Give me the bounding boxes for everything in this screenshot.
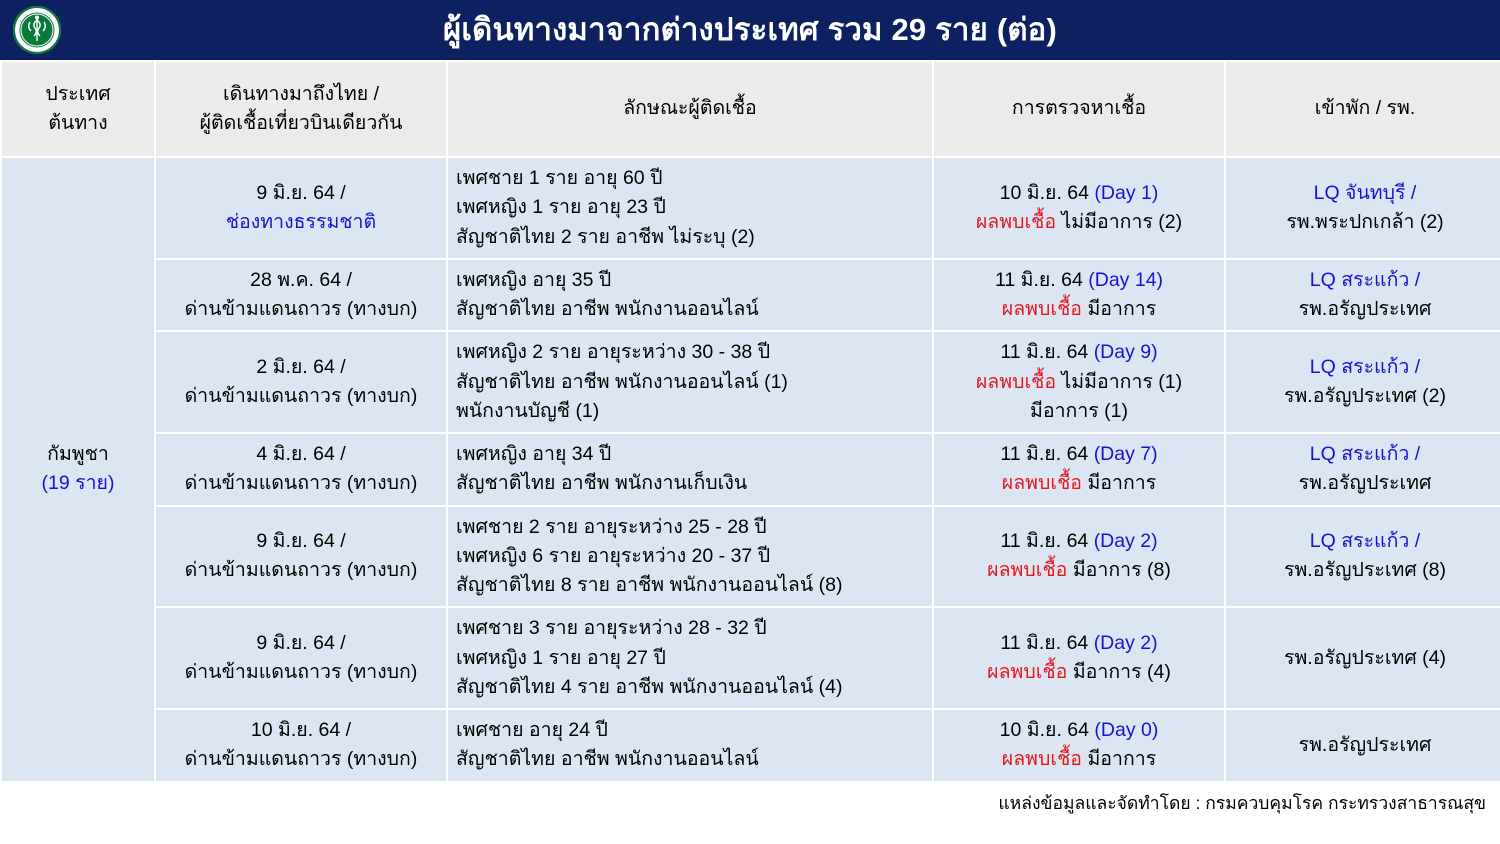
stay-hospital-cell: LQ สระแก้ว /รพ.อรัญประเทศ bbox=[1226, 260, 1500, 331]
stay-hospital-cell: LQ จันทบุรี /รพ.พระปกเกล้า (2) bbox=[1226, 158, 1500, 258]
country-name: กัมพูชา bbox=[10, 440, 146, 469]
case-detail-line: สัญชาติไทย อาชีพ พนักงานออนไลน์ bbox=[456, 745, 924, 774]
case-detail-line: เพศชาย อายุ 24 ปี bbox=[456, 716, 924, 745]
test-date-line: 11 มิ.ย. 64 (Day 9) bbox=[942, 338, 1216, 367]
test-day-number: (Day 1) bbox=[1094, 182, 1158, 204]
test-result-line: ผลพบเชื้อ ไม่มีอาการ (1) bbox=[942, 368, 1216, 397]
test-result-line: ผลพบเชื้อ มีอาการ (8) bbox=[942, 556, 1216, 585]
case-detail-line: เพศหญิง 6 ราย อายุระหว่าง 20 - 37 ปี bbox=[456, 542, 924, 571]
case-detail-cell: เพศหญิง อายุ 34 ปีสัญชาติไทย อาชีพ พนักง… bbox=[448, 434, 932, 505]
case-detail-cell: เพศหญิง อายุ 35 ปีสัญชาติไทย อาชีพ พนักง… bbox=[448, 260, 932, 331]
test-date: 10 มิ.ย. 64 bbox=[1000, 182, 1089, 204]
test-date-line: 10 มิ.ย. 64 (Day 0) bbox=[942, 716, 1216, 745]
test-result-positive: ผลพบเชื้อ bbox=[987, 661, 1067, 683]
column-header-stay: เข้าพัก / รพ. bbox=[1226, 62, 1500, 156]
country-group-cell: กัมพูชา(19 ราย) bbox=[2, 158, 154, 781]
table-body: กัมพูชา(19 ราย)9 มิ.ย. 64 /ช่องทางธรรมชา… bbox=[2, 158, 1500, 781]
case-detail-line: เพศชาย 3 ราย อายุระหว่าง 28 - 32 ปี bbox=[456, 614, 924, 643]
stay-hospital-cell: รพ.อรัญประเทศ (4) bbox=[1226, 608, 1500, 708]
slide-page: ผู้เดินทางมาจากต่างประเทศ รวม 29 ราย (ต่… bbox=[0, 0, 1500, 844]
stay-location: LQ สระแก้ว / bbox=[1234, 440, 1496, 469]
test-result-positive: ผลพบเชื้อ bbox=[976, 211, 1056, 233]
test-date: 11 มิ.ย. 64 bbox=[1000, 443, 1088, 465]
case-detail-cell: เพศหญิง 2 ราย อายุระหว่าง 30 - 38 ปีสัญช… bbox=[448, 332, 932, 432]
table-row: 10 มิ.ย. 64 /ด่านข้ามแดนถาวร (ทางบก)เพศช… bbox=[2, 710, 1500, 781]
table-row: 2 มิ.ย. 64 /ด่านข้ามแดนถาวร (ทางบก)เพศหญ… bbox=[2, 332, 1500, 432]
column-header-arrival-line1: เดินทางมาถึงไทย / bbox=[164, 80, 438, 109]
table-row: 4 มิ.ย. 64 /ด่านข้ามแดนถาวร (ทางบก)เพศหญ… bbox=[2, 434, 1500, 505]
test-date: 11 มิ.ย. 64 bbox=[995, 269, 1083, 291]
test-result-line: ผลพบเชื้อ มีอาการ bbox=[942, 469, 1216, 498]
stay-hospital-cell: LQ สระแก้ว /รพ.อรัญประเทศ bbox=[1226, 434, 1500, 505]
stay-location: LQ สระแก้ว / bbox=[1234, 527, 1496, 556]
arrival-date: 9 มิ.ย. 64 / bbox=[164, 179, 438, 208]
stay-hospital-cell: LQ สระแก้ว /รพ.อรัญประเทศ (2) bbox=[1226, 332, 1500, 432]
case-detail-line: สัญชาติไทย 2 ราย อาชีพ ไม่ระบุ (2) bbox=[456, 223, 924, 252]
case-detail-line: พนักงานบัญชี (1) bbox=[456, 397, 924, 426]
stay-hospital: รพ.พระปกเกล้า (2) bbox=[1234, 208, 1496, 237]
table-row: 9 มิ.ย. 64 /ด่านข้ามแดนถาวร (ทางบก)เพศชา… bbox=[2, 507, 1500, 607]
page-title: ผู้เดินทางมาจากต่างประเทศ รวม 29 ราย (ต่… bbox=[443, 13, 1057, 47]
test-symptom: มีอาการ (8) bbox=[1073, 559, 1171, 581]
test-result-cell: 11 มิ.ย. 64 (Day 9)ผลพบเชื้อ ไม่มีอาการ … bbox=[934, 332, 1224, 432]
case-detail-line: เพศหญิง 1 ราย อายุ 23 ปี bbox=[456, 193, 924, 222]
stay-hospital: รพ.อรัญประเทศ (8) bbox=[1234, 556, 1496, 585]
test-date: 11 มิ.ย. 64 bbox=[1000, 632, 1088, 654]
case-detail-line: เพศหญิง อายุ 34 ปี bbox=[456, 440, 924, 469]
arrival-cell: 9 มิ.ย. 64 /ด่านข้ามแดนถาวร (ทางบก) bbox=[156, 507, 446, 607]
test-day-number: (Day 7) bbox=[1094, 443, 1158, 465]
column-header-country-line1: ประเทศ bbox=[10, 80, 146, 109]
arrival-cell: 4 มิ.ย. 64 /ด่านข้ามแดนถาวร (ทางบก) bbox=[156, 434, 446, 505]
stay-location: รพ.อรัญประเทศ bbox=[1234, 731, 1496, 760]
stay-location: รพ.อรัญประเทศ (4) bbox=[1234, 644, 1496, 673]
test-result-line: ผลพบเชื้อ มีอาการ (4) bbox=[942, 658, 1216, 687]
test-result-positive: ผลพบเชื้อ bbox=[976, 371, 1056, 393]
column-header-country-line2: ต้นทาง bbox=[10, 109, 146, 138]
case-detail-line: สัญชาติไทย อาชีพ พนักงานเก็บเงิน bbox=[456, 469, 924, 498]
test-result-cell: 10 มิ.ย. 64 (Day 0)ผลพบเชื้อ มีอาการ bbox=[934, 710, 1224, 781]
stay-location: LQ สระแก้ว / bbox=[1234, 353, 1496, 382]
test-result-cell: 10 มิ.ย. 64 (Day 1)ผลพบเชื้อ ไม่มีอาการ … bbox=[934, 158, 1224, 258]
case-detail-cell: เพศชาย อายุ 24 ปีสัญชาติไทย อาชีพ พนักงา… bbox=[448, 710, 932, 781]
case-detail-line: สัญชาติไทย อาชีพ พนักงานออนไลน์ bbox=[456, 295, 924, 324]
test-symptom-secondary: มีอาการ (1) bbox=[942, 397, 1216, 426]
country-case-count: (19 ราย) bbox=[10, 469, 146, 498]
case-detail-line: สัญชาติไทย 8 ราย อาชีพ พนักงานออนไลน์ (8… bbox=[456, 571, 924, 600]
column-header-stay-line1: เข้าพัก / รพ. bbox=[1234, 94, 1496, 123]
test-result-line: ผลพบเชื้อ มีอาการ bbox=[942, 745, 1216, 774]
imported-cases-table: ประเทศ ต้นทาง เดินทางมาถึงไทย / ผู้ติดเช… bbox=[0, 60, 1500, 783]
arrival-date: 10 มิ.ย. 64 / bbox=[164, 716, 438, 745]
arrival-date: 4 มิ.ย. 64 / bbox=[164, 440, 438, 469]
test-symptom: มีอาการ (4) bbox=[1073, 661, 1171, 683]
test-result-line: ผลพบเชื้อ มีอาการ bbox=[942, 295, 1216, 324]
arrival-cell: 10 มิ.ย. 64 /ด่านข้ามแดนถาวร (ทางบก) bbox=[156, 710, 446, 781]
source-footer: แหล่งข้อมูลและจัดทำโดย : กรมควบคุมโรค กร… bbox=[0, 783, 1500, 817]
column-header-arrival-line2: ผู้ติดเชื้อเที่ยวบินเดียวกัน bbox=[164, 109, 438, 138]
arrival-date: 9 มิ.ย. 64 / bbox=[164, 629, 438, 658]
test-symptom: มีอาการ bbox=[1087, 298, 1156, 320]
table-row: 9 มิ.ย. 64 /ด่านข้ามแดนถาวร (ทางบก)เพศชา… bbox=[2, 608, 1500, 708]
arrival-channel: ช่องทางธรรมชาติ bbox=[164, 208, 438, 237]
test-day-number: (Day 0) bbox=[1094, 719, 1158, 741]
case-detail-cell: เพศชาย 2 ราย อายุระหว่าง 25 - 28 ปีเพศหญ… bbox=[448, 507, 932, 607]
case-detail-line: สัญชาติไทย 4 ราย อาชีพ พนักงานออนไลน์ (4… bbox=[456, 673, 924, 702]
test-result-line: ผลพบเชื้อ ไม่มีอาการ (2) bbox=[942, 208, 1216, 237]
arrival-channel: ด่านข้ามแดนถาวร (ทางบก) bbox=[164, 658, 438, 687]
arrival-channel: ด่านข้ามแดนถาวร (ทางบก) bbox=[164, 745, 438, 774]
test-result-positive: ผลพบเชื้อ bbox=[1002, 472, 1082, 494]
table-row: กัมพูชา(19 ราย)9 มิ.ย. 64 /ช่องทางธรรมชา… bbox=[2, 158, 1500, 258]
arrival-channel: ด่านข้ามแดนถาวร (ทางบก) bbox=[164, 382, 438, 411]
case-detail-line: เพศหญิง 1 ราย อายุ 27 ปี bbox=[456, 644, 924, 673]
test-symptom: มีอาการ bbox=[1087, 748, 1156, 770]
test-symptom: มีอาการ bbox=[1087, 472, 1156, 494]
title-bar: ผู้เดินทางมาจากต่างประเทศ รวม 29 ราย (ต่… bbox=[0, 0, 1500, 60]
stay-location: LQ สระแก้ว / bbox=[1234, 266, 1496, 295]
arrival-date: 2 มิ.ย. 64 / bbox=[164, 353, 438, 382]
test-result-positive: ผลพบเชื้อ bbox=[1002, 298, 1082, 320]
ministry-of-public-health-emblem-icon bbox=[12, 5, 62, 55]
stay-hospital-cell: รพ.อรัญประเทศ bbox=[1226, 710, 1500, 781]
case-detail-line: เพศชาย 2 ราย อายุระหว่าง 25 - 28 ปี bbox=[456, 513, 924, 542]
arrival-channel: ด่านข้ามแดนถาวร (ทางบก) bbox=[164, 556, 438, 585]
test-result-positive: ผลพบเชื้อ bbox=[987, 559, 1067, 581]
case-detail-line: สัญชาติไทย อาชีพ พนักงานออนไลน์ (1) bbox=[456, 368, 924, 397]
arrival-date: 9 มิ.ย. 64 / bbox=[164, 527, 438, 556]
case-detail-cell: เพศชาย 3 ราย อายุระหว่าง 28 - 32 ปีเพศหญ… bbox=[448, 608, 932, 708]
column-header-detail: ลักษณะผู้ติดเชื้อ bbox=[448, 62, 932, 156]
table-header-row: ประเทศ ต้นทาง เดินทางมาถึงไทย / ผู้ติดเช… bbox=[2, 62, 1500, 156]
test-symptom: ไม่มีอาการ (1) bbox=[1061, 371, 1182, 393]
stay-hospital: รพ.อรัญประเทศ bbox=[1234, 469, 1496, 498]
table-row: 28 พ.ค. 64 /ด่านข้ามแดนถาวร (ทางบก)เพศหญ… bbox=[2, 260, 1500, 331]
arrival-cell: 28 พ.ค. 64 /ด่านข้ามแดนถาวร (ทางบก) bbox=[156, 260, 446, 331]
column-header-country: ประเทศ ต้นทาง bbox=[2, 62, 154, 156]
test-date-line: 11 มิ.ย. 64 (Day 2) bbox=[942, 629, 1216, 658]
arrival-channel: ด่านข้ามแดนถาวร (ทางบก) bbox=[164, 469, 438, 498]
test-result-cell: 11 มิ.ย. 64 (Day 14)ผลพบเชื้อ มีอาการ bbox=[934, 260, 1224, 331]
test-day-number: (Day 14) bbox=[1088, 269, 1163, 291]
column-header-detail-line1: ลักษณะผู้ติดเชื้อ bbox=[456, 94, 924, 123]
case-detail-line: เพศหญิง อายุ 35 ปี bbox=[456, 266, 924, 295]
case-detail-line: เพศหญิง 2 ราย อายุระหว่าง 30 - 38 ปี bbox=[456, 338, 924, 367]
test-date-line: 11 มิ.ย. 64 (Day 7) bbox=[942, 440, 1216, 469]
stay-hospital: รพ.อรัญประเทศ (2) bbox=[1234, 382, 1496, 411]
case-detail-cell: เพศชาย 1 ราย อายุ 60 ปีเพศหญิง 1 ราย อาย… bbox=[448, 158, 932, 258]
arrival-channel: ด่านข้ามแดนถาวร (ทางบก) bbox=[164, 295, 438, 324]
test-date: 11 มิ.ย. 64 bbox=[1000, 341, 1088, 363]
stay-hospital-cell: LQ สระแก้ว /รพ.อรัญประเทศ (8) bbox=[1226, 507, 1500, 607]
test-result-cell: 11 มิ.ย. 64 (Day 7)ผลพบเชื้อ มีอาการ bbox=[934, 434, 1224, 505]
test-date-line: 10 มิ.ย. 64 (Day 1) bbox=[942, 179, 1216, 208]
test-date: 11 มิ.ย. 64 bbox=[1000, 530, 1088, 552]
column-header-test: การตรวจหาเชื้อ bbox=[934, 62, 1224, 156]
test-day-number: (Day 2) bbox=[1094, 530, 1158, 552]
test-result-positive: ผลพบเชื้อ bbox=[1002, 748, 1082, 770]
column-header-test-line1: การตรวจหาเชื้อ bbox=[942, 94, 1216, 123]
test-day-number: (Day 9) bbox=[1094, 341, 1158, 363]
test-date: 10 มิ.ย. 64 bbox=[1000, 719, 1089, 741]
test-date-line: 11 มิ.ย. 64 (Day 2) bbox=[942, 527, 1216, 556]
test-result-cell: 11 มิ.ย. 64 (Day 2)ผลพบเชื้อ มีอาการ (8) bbox=[934, 507, 1224, 607]
arrival-cell: 9 มิ.ย. 64 /ด่านข้ามแดนถาวร (ทางบก) bbox=[156, 608, 446, 708]
stay-hospital: รพ.อรัญประเทศ bbox=[1234, 295, 1496, 324]
arrival-cell: 2 มิ.ย. 64 /ด่านข้ามแดนถาวร (ทางบก) bbox=[156, 332, 446, 432]
test-symptom: ไม่มีอาการ (2) bbox=[1061, 211, 1182, 233]
stay-location: LQ จันทบุรี / bbox=[1234, 179, 1496, 208]
test-result-cell: 11 มิ.ย. 64 (Day 2)ผลพบเชื้อ มีอาการ (4) bbox=[934, 608, 1224, 708]
column-header-arrival: เดินทางมาถึงไทย / ผู้ติดเชื้อเที่ยวบินเด… bbox=[156, 62, 446, 156]
test-date-line: 11 มิ.ย. 64 (Day 14) bbox=[942, 266, 1216, 295]
test-day-number: (Day 2) bbox=[1094, 632, 1158, 654]
case-detail-line: เพศชาย 1 ราย อายุ 60 ปี bbox=[456, 164, 924, 193]
arrival-date: 28 พ.ค. 64 / bbox=[164, 266, 438, 295]
arrival-cell: 9 มิ.ย. 64 /ช่องทางธรรมชาติ bbox=[156, 158, 446, 258]
table-header: ประเทศ ต้นทาง เดินทางมาถึงไทย / ผู้ติดเช… bbox=[2, 62, 1500, 156]
